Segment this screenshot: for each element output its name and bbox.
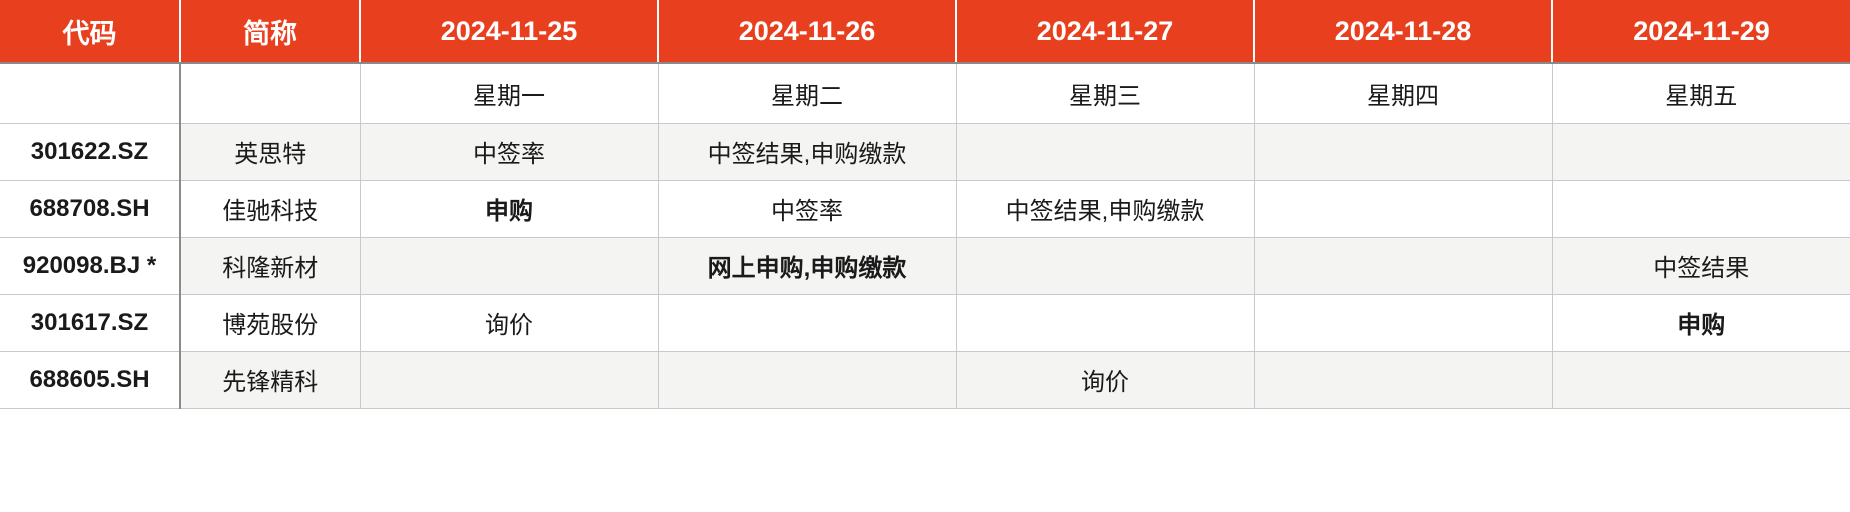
stock-code[interactable]: 688605.SH <box>0 351 180 408</box>
stock-code[interactable]: 920098.BJ * <box>0 237 180 294</box>
schedule-cell: 中签结果,申购缴款 <box>956 180 1254 237</box>
schedule-cell <box>360 351 658 408</box>
table-row[interactable]: 301617.SZ 博苑股份 询价 申购 <box>0 294 1850 351</box>
schedule-cell: 网上申购,申购缴款 <box>658 237 956 294</box>
schedule-cell <box>1552 351 1850 408</box>
schedule-cell <box>1552 180 1850 237</box>
weekday-blank-name <box>180 63 360 123</box>
schedule-cell <box>956 237 1254 294</box>
schedule-cell <box>658 351 956 408</box>
schedule-cell <box>360 237 658 294</box>
schedule-cell: 询价 <box>360 294 658 351</box>
weekday-label-2: 星期二 <box>658 63 956 123</box>
schedule-cell <box>956 123 1254 180</box>
schedule-cell <box>1254 123 1552 180</box>
table-row[interactable]: 688605.SH 先锋精科 询价 <box>0 351 1850 408</box>
stock-name[interactable]: 科隆新材 <box>180 237 360 294</box>
weekday-label-3: 星期三 <box>956 63 1254 123</box>
stock-code[interactable]: 688708.SH <box>0 180 180 237</box>
table-row[interactable]: 688708.SH 佳驰科技 申购 中签率 中签结果,申购缴款 <box>0 180 1850 237</box>
table-header: 代码 简称 2024-11-25 2024-11-26 2024-11-27 2… <box>0 0 1850 63</box>
schedule-cell: 询价 <box>956 351 1254 408</box>
table-row[interactable]: 920098.BJ * 科隆新材 网上申购,申购缴款 中签结果 <box>0 237 1850 294</box>
stock-name[interactable]: 先锋精科 <box>180 351 360 408</box>
schedule-cell <box>1254 237 1552 294</box>
schedule-cell: 中签结果,申购缴款 <box>658 123 956 180</box>
stock-name[interactable]: 英思特 <box>180 123 360 180</box>
column-header-code[interactable]: 代码 <box>0 0 180 63</box>
column-header-name[interactable]: 简称 <box>180 0 360 63</box>
weekday-label-4: 星期四 <box>1254 63 1552 123</box>
table-row[interactable]: 301622.SZ 英思特 中签率 中签结果,申购缴款 <box>0 123 1850 180</box>
schedule-cell <box>1254 351 1552 408</box>
weekday-label-1: 星期一 <box>360 63 658 123</box>
schedule-cell <box>1254 180 1552 237</box>
schedule-cell: 申购 <box>1552 294 1850 351</box>
column-header-date-5[interactable]: 2024-11-29 <box>1552 0 1850 63</box>
stock-code[interactable]: 301622.SZ <box>0 123 180 180</box>
schedule-cell <box>658 294 956 351</box>
schedule-cell <box>1254 294 1552 351</box>
header-row: 代码 简称 2024-11-25 2024-11-26 2024-11-27 2… <box>0 0 1850 63</box>
stock-code[interactable]: 301617.SZ <box>0 294 180 351</box>
column-header-date-3[interactable]: 2024-11-27 <box>956 0 1254 63</box>
ipo-schedule-table: 代码 简称 2024-11-25 2024-11-26 2024-11-27 2… <box>0 0 1850 409</box>
schedule-cell <box>956 294 1254 351</box>
stock-name[interactable]: 佳驰科技 <box>180 180 360 237</box>
schedule-cell: 中签率 <box>360 123 658 180</box>
weekday-blank-code <box>0 63 180 123</box>
weekday-row: 星期一 星期二 星期三 星期四 星期五 <box>0 63 1850 123</box>
schedule-cell <box>1552 123 1850 180</box>
column-header-date-1[interactable]: 2024-11-25 <box>360 0 658 63</box>
stock-name[interactable]: 博苑股份 <box>180 294 360 351</box>
schedule-cell: 中签结果 <box>1552 237 1850 294</box>
schedule-cell: 申购 <box>360 180 658 237</box>
table-body: 星期一 星期二 星期三 星期四 星期五 301622.SZ 英思特 中签率 中签… <box>0 63 1850 408</box>
column-header-date-2[interactable]: 2024-11-26 <box>658 0 956 63</box>
weekday-label-5: 星期五 <box>1552 63 1850 123</box>
column-header-date-4[interactable]: 2024-11-28 <box>1254 0 1552 63</box>
schedule-cell: 中签率 <box>658 180 956 237</box>
ipo-calendar-page: 代码 简称 2024-11-25 2024-11-26 2024-11-27 2… <box>0 0 1850 512</box>
